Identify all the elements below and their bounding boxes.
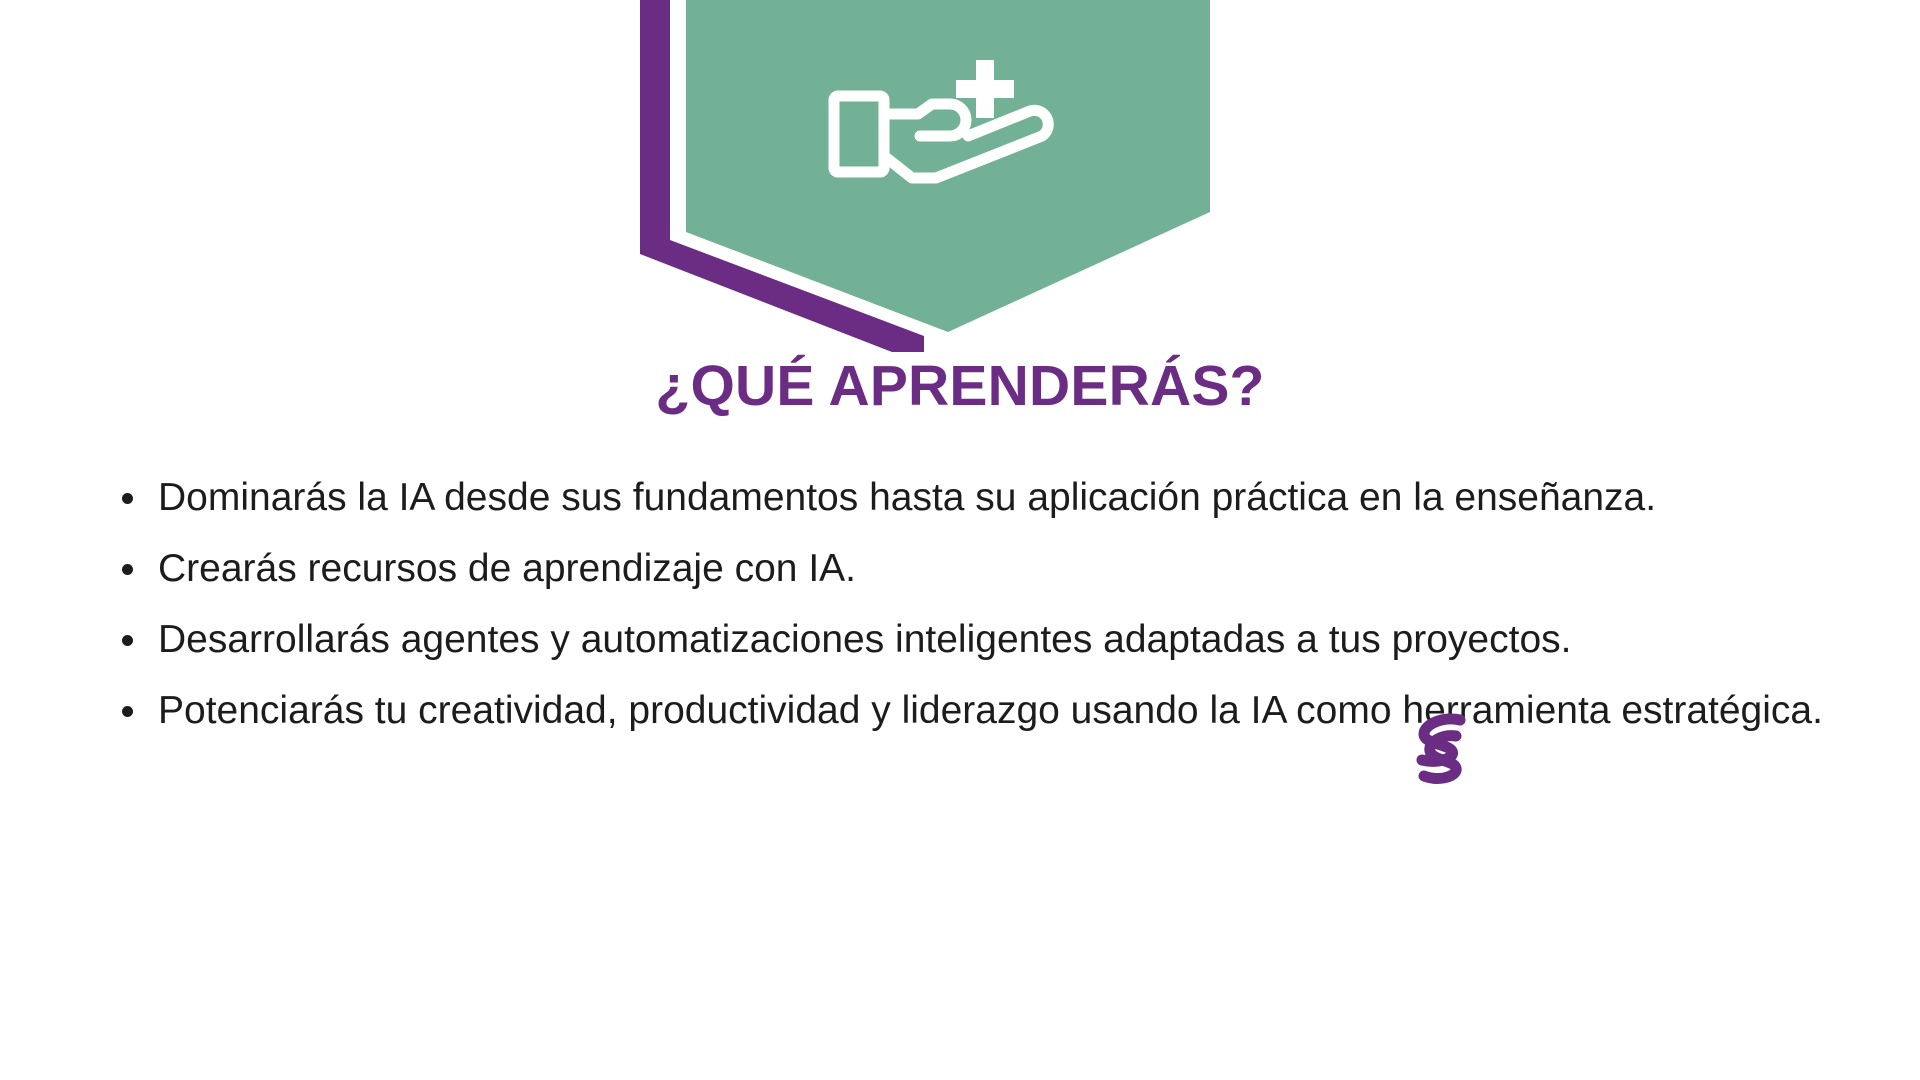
emblem-group [640,0,1210,352]
brand-logo-icon [1398,706,1482,790]
list-item: Potenciarás tu creatividad, productivida… [104,675,1834,746]
slide-canvas: ¿QUÉ APRENDERÁS? Dominarás la IA desde s… [0,0,1920,1080]
slide-title: ¿QUÉ APRENDERÁS? [0,358,1920,415]
list-item: Crearás recursos de aprendizaje con IA. [104,533,1834,604]
list-item: Dominarás la IA desde sus fundamentos ha… [104,462,1834,533]
hand-holding-card-plus-icon [826,52,1066,212]
bullet-list: Dominarás la IA desde sus fundamentos ha… [104,462,1834,746]
list-item: Desarrollarás agentes y automatizaciones… [104,604,1834,675]
